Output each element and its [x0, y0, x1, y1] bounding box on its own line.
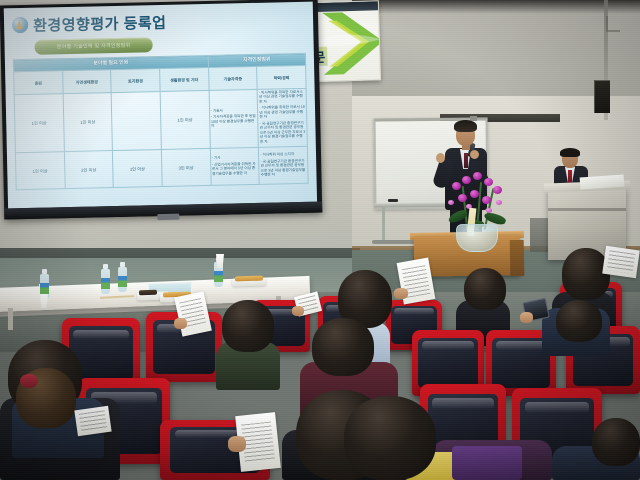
audience-hand	[394, 288, 408, 299]
cell-living: 3인 이상	[161, 149, 210, 187]
slide-title-bar: 환경영향평가 등록업	[12, 7, 305, 37]
cell-certificate: - 기사 - 산업기사자격증을 취득한 자로서 그 분야에서 5년 이상 환경기…	[210, 148, 259, 186]
whiteboard-marker-icon	[388, 199, 398, 202]
water-bottle	[118, 267, 127, 292]
col-nature: 자연생태환경	[62, 70, 111, 94]
edu-line: - 박사학위를 취득한 자로서 5년 이상 관련 기술업무를 수행한 자	[259, 90, 305, 104]
printed-handout[interactable]	[74, 406, 111, 436]
handout-text-lines	[607, 251, 635, 274]
slide-title: 환경영향평가 등록업	[33, 11, 167, 35]
cert-line: - 기술사	[211, 108, 257, 113]
lecture-hall-photo: 수회 구전학동문 지금 환경공학과 환경영향평가 등록업 분야별 기술인력 및 …	[0, 0, 640, 480]
audience-head	[222, 300, 274, 352]
cell-land	[111, 92, 161, 151]
audience-head	[562, 248, 610, 300]
hair-tie	[20, 374, 38, 388]
slide-table: 분야별 필요 인원 자격인정범위 총원 자연생태환경 토지환경 생활환경 및 기…	[13, 53, 309, 191]
side-chair	[530, 218, 548, 252]
cert-line: - 기사자격증을 취득한 후 동일 10년 이상 환경실무를 수행한 자	[211, 114, 257, 128]
edu-line: - 국·공립연구기관 환경연구기관 근무자 및 환경관련 공무원으로 3년 이상…	[260, 158, 306, 177]
orchid-flower	[458, 194, 467, 202]
purple-scarf	[452, 446, 522, 480]
table-row: 1인 이상 1인 이상 1인 이상 - 기술사 - 기사자격증을 취득한 후 동…	[14, 88, 307, 153]
presenter-hand-gesture	[436, 153, 445, 163]
orchid-flower	[462, 176, 471, 184]
bottle-label	[118, 276, 127, 287]
col-land: 토지환경	[111, 69, 160, 93]
presentation-logo-icon	[12, 17, 28, 33]
presenter-hand-mic	[470, 150, 479, 159]
audience-head	[556, 300, 602, 342]
cell-land: 1인 이상	[113, 150, 162, 188]
orchid-bud	[448, 200, 454, 205]
orchid-flower	[470, 190, 479, 198]
orchid-bud	[486, 208, 492, 213]
orchid-flower	[452, 182, 461, 190]
orchid-flower	[493, 186, 502, 194]
audience-head	[464, 268, 506, 310]
cell-nature: 1인 이상	[63, 93, 113, 152]
glass-vase	[456, 224, 498, 252]
edu-line: - 국·공립연구기관 환경연구기관 근무자 및 환경관련 공무원으로 5년 이상…	[260, 121, 306, 144]
cell-total: 1인 이상	[14, 94, 64, 153]
projection-screen: 환경영향평가 등록업 분야별 기술인력 및 자격인정범위 분야별 필요 인원 자…	[0, 0, 322, 219]
snack-food	[235, 276, 263, 282]
handout-text-lines	[241, 421, 275, 463]
wall-mounted-speaker-icon	[594, 80, 610, 113]
audience-hand	[174, 318, 187, 329]
audience-head	[312, 318, 374, 376]
wall-corner-bracket	[606, 16, 620, 32]
col-education: 학력/경력	[257, 65, 306, 89]
audience-head	[344, 396, 436, 480]
col-total: 총원	[14, 71, 63, 95]
slide-section-label: 분야별 기술인력 및 자격인정범위	[57, 42, 131, 51]
presentation-slide: 환경영향평가 등록업 분야별 기술인력 및 자격인정범위 분야별 필요 인원 자…	[4, 2, 317, 198]
cert-line: - 기사	[212, 155, 258, 160]
col-living: 생활환경 및 기타	[160, 67, 209, 91]
col-certificate: 기술자격증	[208, 66, 257, 90]
cell-education: - 석사학위 이상 소지자 - 국·공립연구기관 환경연구기관 근무자 및 환경…	[259, 147, 309, 185]
printed-handout[interactable]	[602, 246, 640, 278]
water-bottle	[101, 269, 110, 294]
podium-trim	[548, 208, 626, 211]
purple-orchid-arrangement	[440, 168, 514, 256]
seat-back-pad	[418, 338, 477, 388]
bottle-label	[101, 278, 110, 289]
handout-text-lines	[79, 410, 107, 432]
cell-certificate: - 기술사 - 기사자격증을 취득한 후 동일 10년 이상 환경실무를 수행한…	[209, 89, 259, 148]
orchid-flower	[482, 196, 491, 204]
slide-section-bar: 분야별 기술인력 및 자격인정범위	[34, 37, 152, 55]
man2-hair	[560, 148, 580, 157]
edu-line: - 석사학위를 취득한 자로서 10년 이상 관련 기술업무를 수행한 자	[259, 105, 305, 119]
audience-hand	[292, 306, 304, 316]
table-leg	[8, 308, 13, 330]
audience-hand	[228, 436, 246, 452]
orchid-flower	[484, 178, 493, 186]
cell-living: 1인 이상	[160, 90, 210, 149]
whiteboard-leg-left	[382, 207, 385, 243]
green-chevron-logo-icon	[318, 7, 381, 79]
ceiling-shadow	[352, 0, 640, 14]
table-row: 1인 이상 2인 이상 1인 이상 3인 이상 - 기사 - 산업기사자격증을 …	[15, 147, 308, 190]
cell-total: 1인 이상	[15, 152, 64, 190]
dark-snack	[139, 290, 157, 296]
screen-weight-bar	[157, 214, 179, 220]
audience-hand	[520, 312, 533, 323]
presenter-hair	[454, 120, 477, 132]
orchid-flower	[473, 172, 482, 180]
cert-line: - 산업기사자격증을 취득한 자로서 그 분야에서 5년 이상 환경기술업무를 …	[212, 162, 258, 176]
audience-head	[592, 418, 640, 466]
edu-line: - 석사학위 이상 소지자	[260, 152, 306, 157]
orchid-bud	[496, 200, 502, 205]
cell-education: - 박사학위를 취득한 자로서 5년 이상 관련 기술업무를 수행한 자 - 석…	[257, 88, 307, 147]
bottle-label	[40, 283, 49, 294]
cell-nature: 2인 이상	[64, 151, 113, 189]
bottle-label	[214, 271, 223, 282]
screen-surface: 환경영향평가 등록업 분야별 기술인력 및 자격인정범위 분야별 필요 인원 자…	[4, 2, 317, 209]
